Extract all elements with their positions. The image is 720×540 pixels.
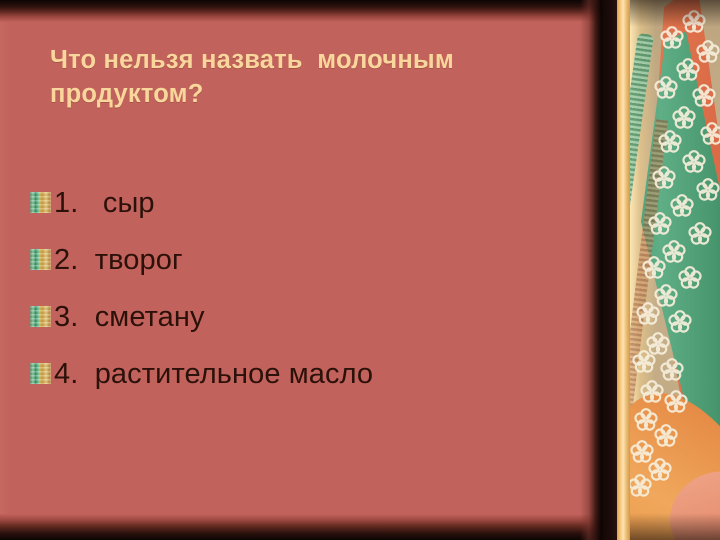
list-item-label: 4. растительное масло [54, 354, 373, 394]
list-item[interactable]: 1. сыр [30, 183, 590, 240]
list-item-label: 3. сметану [54, 297, 205, 337]
gold-stripe-shape [617, 0, 631, 540]
list-item-label: 1. сыр [54, 183, 155, 223]
panel-dark-band [602, 0, 618, 540]
panel-pattern-field [630, 0, 720, 540]
bottom-edge-shadow [0, 514, 602, 540]
page-title: Что нельзя назвать молочным продуктом? [50, 43, 590, 111]
panel-vignette [630, 0, 720, 540]
ornament-square-icon [30, 363, 51, 384]
list-item[interactable]: 3. сметану [30, 297, 590, 354]
slide-content-area: Что нельзя назвать молочным продуктом? 1… [0, 0, 602, 540]
list-item[interactable]: 4. растительное масло [30, 354, 590, 411]
list-item-label: 2. творог [54, 240, 183, 280]
ornament-square-icon [30, 249, 51, 270]
list-item[interactable]: 2. творог [30, 240, 590, 297]
presentation-slide: Что нельзя назвать молочным продуктом? 1… [0, 0, 720, 540]
ornament-square-icon [30, 306, 51, 327]
answer-list: 1. сыр 2. творог 3. сметану 4. растител [30, 183, 590, 411]
left-edge-glow [0, 0, 10, 540]
top-edge-shadow [0, 0, 602, 22]
ornament-square-icon [30, 192, 51, 213]
decorative-side-panel [602, 0, 720, 540]
